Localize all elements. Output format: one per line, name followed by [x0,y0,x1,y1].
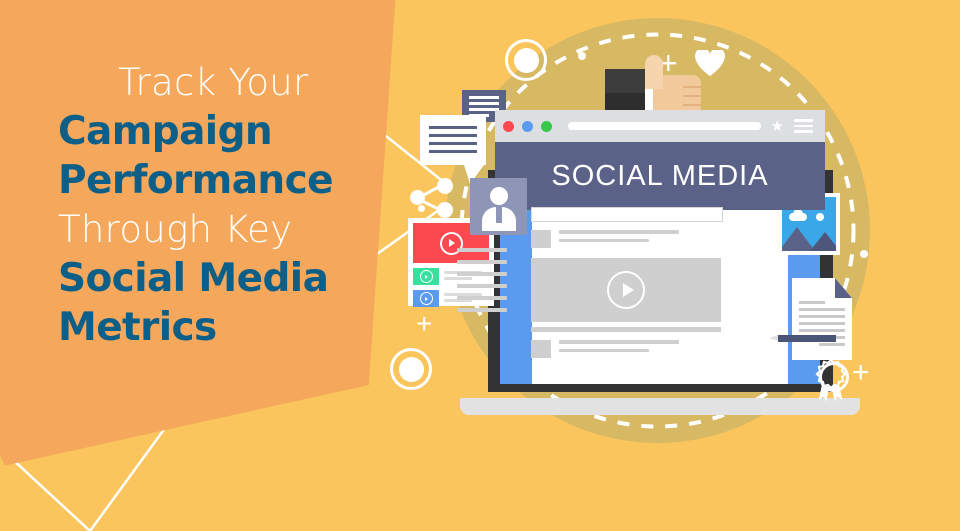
speech-bubble-white-icon [420,115,486,165]
hamburger-menu-icon[interactable] [794,119,813,133]
address-bar[interactable] [568,122,761,130]
feed-content [495,210,825,390]
avatar-icon[interactable] [470,178,527,235]
post-text-lines [559,340,679,352]
headline-line-6: Metrics [58,303,388,352]
page-header-banner: SOCIAL MEDIA [495,142,825,210]
headline-line-1: Track Your [118,58,388,107]
video-thumbnail-blue [413,290,439,307]
headline-line-2: Campaign [58,107,388,156]
video-player[interactable] [531,258,721,322]
window-maximize-dot[interactable] [541,121,552,132]
headline-line-4: Through Key [58,205,388,254]
post-row [531,230,679,248]
headline-line-3: Performance [58,156,388,205]
post-divider [531,327,721,332]
play-button-icon[interactable] [607,271,645,309]
headline-line-5: Social Media [58,254,388,303]
decor-dot [578,52,586,60]
sidebar-placeholder-lines [457,248,507,320]
search-input[interactable] [531,207,723,222]
ring-circle-decoration [505,39,547,81]
page-title: SOCIAL MEDIA [551,160,768,193]
social-media-illustration: ★ SOCIAL MEDIA [400,0,960,531]
post-text-lines [559,230,679,242]
bookmark-star-icon[interactable]: ★ [771,119,784,134]
post-thumbnail [531,340,551,358]
browser-chrome-bar: ★ [495,110,825,142]
post-thumbnail [531,230,551,248]
decor-dot [860,250,868,258]
video-thumbnail-green [413,268,439,285]
thumbs-up-icon [605,55,701,115]
plus-icon [416,310,432,338]
poster-canvas: Track Your Campaign Performance Through … [0,0,960,531]
headline-block: Track Your Campaign Performance Through … [58,58,388,352]
share-icon [410,178,454,218]
window-close-dot[interactable] [503,121,514,132]
window-minimize-dot[interactable] [522,121,533,132]
post-row [531,340,679,358]
ring-circle-decoration [390,348,432,390]
